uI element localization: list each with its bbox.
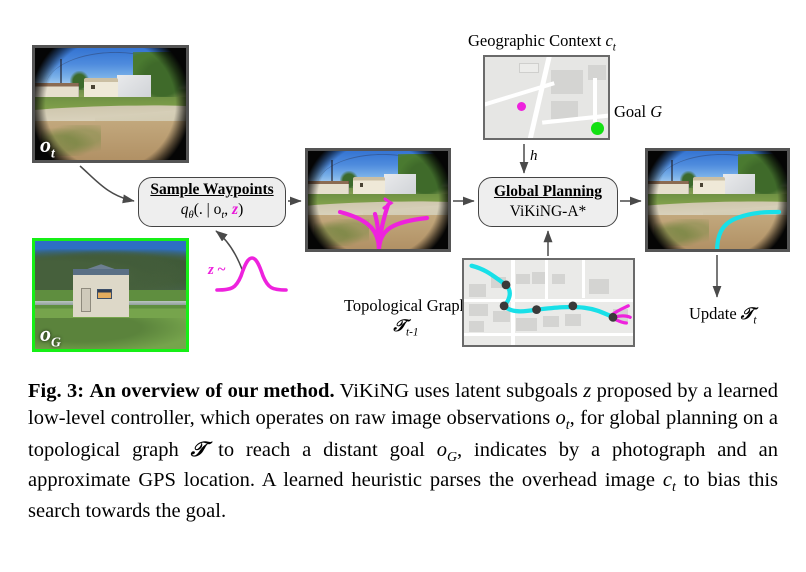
method-overview-figure: ot oG Sample Waypoints qθ(. | ot, z) z ~ — [0, 0, 806, 372]
latent-gaussian-curve — [217, 258, 286, 290]
caption-body-1: ViKiNG uses latent subgoals — [335, 380, 584, 402]
global-planning-title: Global Planning — [494, 183, 602, 201]
chosen-path — [717, 212, 779, 252]
selected-waypoint-photo — [645, 148, 790, 252]
goal-label-var: o — [40, 321, 51, 346]
shed-door — [81, 288, 91, 312]
latent-z-var: z — [208, 262, 214, 278]
caption-var-oG-sub: G — [447, 450, 457, 465]
map-block — [551, 70, 583, 94]
update-symbol: 𝒯 — [741, 304, 754, 323]
caption-var-oG: o — [437, 439, 447, 461]
observation-label-var: o — [40, 132, 51, 157]
geographic-context-map[interactable] — [483, 55, 610, 140]
update-graph-label: Update 𝒯t — [689, 305, 757, 327]
caption-var-T: 𝒯 — [191, 437, 207, 461]
fisheye-vignette — [32, 45, 189, 163]
observation-label-sub: t — [51, 145, 55, 160]
topological-graph-label: Topological Graph 𝒯t-1 — [344, 297, 468, 339]
goal-label: oG — [40, 321, 61, 350]
goal-label-sub: G — [51, 334, 61, 349]
geographic-context-label: Geographic Context ct — [468, 32, 616, 54]
goal-label-var: G — [650, 102, 662, 121]
map-road-right — [593, 78, 597, 122]
trajectory-left — [340, 212, 379, 248]
goal-position-dot — [591, 122, 604, 135]
graph-node — [568, 301, 577, 310]
shed-window — [97, 289, 113, 300]
goal-label-text: Goal — [614, 102, 650, 121]
observation-label: ot — [40, 132, 55, 161]
graph-node — [502, 280, 511, 289]
formula-comma: , — [224, 201, 232, 218]
geo-label-var: c — [605, 31, 612, 50]
caption-var-ot: o — [556, 407, 566, 429]
map-block — [519, 63, 539, 73]
latent-z-label: z ~ — [208, 262, 225, 279]
topological-graph-symbol-sub: t-1 — [406, 326, 418, 338]
caption-title: An overview of our method. — [90, 380, 335, 402]
formula-q: q — [181, 201, 189, 218]
heuristic-arrow-label: h — [530, 148, 538, 165]
global-planning-box[interactable]: Global Planning ViKiNG-A* — [478, 177, 618, 227]
graph-node — [609, 313, 618, 322]
formula-body: (. | o — [194, 201, 222, 218]
caption-fig-number: Fig. 3: — [28, 380, 84, 402]
shed-building — [73, 269, 130, 317]
topological-path-overlay — [464, 260, 633, 345]
trajectory-right — [379, 218, 427, 248]
sample-waypoints-title: Sample Waypoints — [150, 181, 273, 199]
sample-waypoints-formula: qθ(. | ot, z) — [181, 201, 243, 223]
graph-node — [532, 305, 541, 314]
geo-label-sub: t — [613, 41, 616, 53]
sample-waypoints-box[interactable]: Sample Waypoints qθ(. | ot, z) — [138, 177, 286, 227]
graph-node — [500, 301, 509, 310]
latent-tilde: ~ — [218, 262, 226, 278]
selected-trajectory — [645, 148, 790, 252]
figure-caption: Fig. 3: An overview of our method. ViKiN… — [0, 372, 806, 572]
caption-var-ct: c — [663, 469, 672, 491]
current-observation-photo: ot — [32, 45, 189, 163]
update-text: Update — [689, 304, 741, 323]
graph-path — [472, 266, 615, 318]
formula-close: ) — [238, 201, 243, 218]
goal-g-label: Goal G — [614, 103, 662, 122]
arrow-obs-to-sample — [80, 166, 134, 201]
topological-graph-title: Topological Graph — [344, 297, 468, 316]
goal-observation-photo: oG — [32, 238, 189, 352]
topological-graph-symbol: 𝒯 — [393, 316, 406, 335]
frontier-branch-3 — [615, 319, 626, 323]
waypoint-trajectories — [305, 148, 451, 252]
caption-body-4: to reach a distant goal — [206, 439, 436, 461]
map-block — [551, 101, 578, 119]
update-symbol-sub: t — [753, 314, 756, 326]
sampled-waypoints-photo — [305, 148, 451, 252]
topological-graph-map[interactable] — [462, 258, 635, 347]
global-planning-subtitle: ViKiNG-A* — [510, 203, 587, 222]
caption-text: Fig. 3: An overview of our method. ViKiN… — [28, 378, 778, 525]
geo-label-text: Geographic Context — [468, 31, 605, 50]
